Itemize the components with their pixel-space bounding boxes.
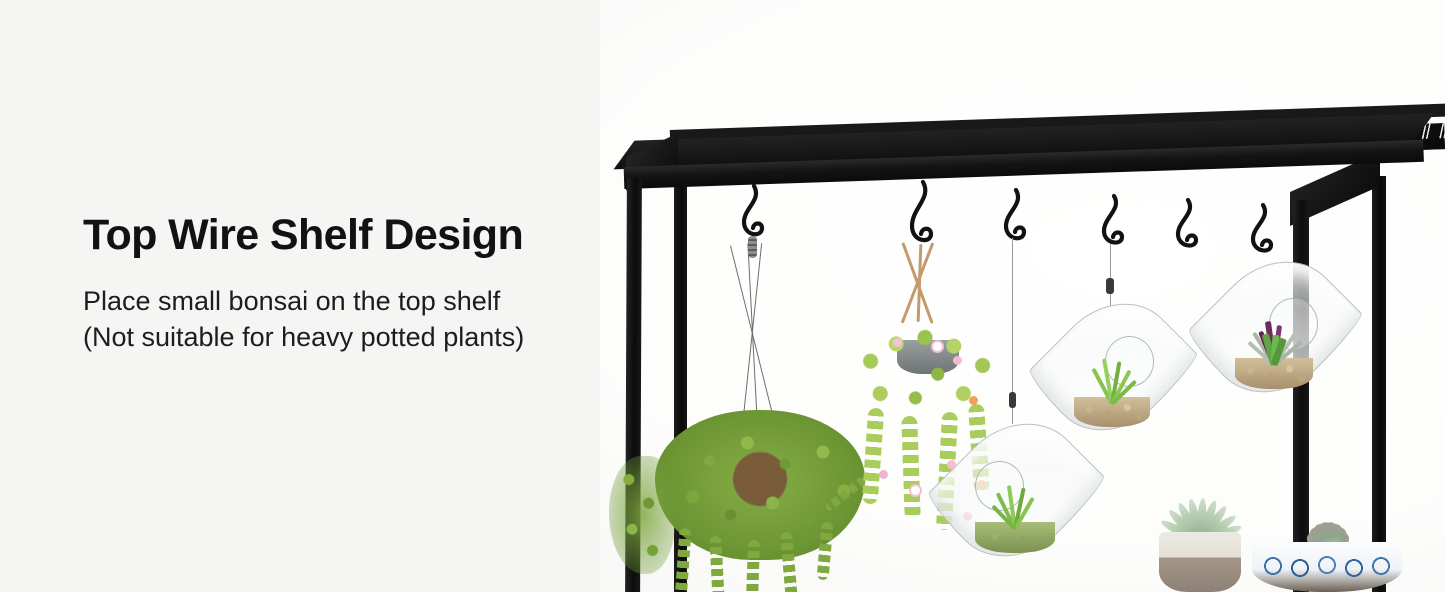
product-photo: [600, 0, 1445, 592]
ceramic-pot: [1159, 532, 1241, 592]
terrarium-ferrule-lower: [1009, 392, 1016, 408]
teardrop-glass-purple: [1216, 256, 1332, 396]
bloom-1: [933, 342, 942, 351]
s-hook-3: [995, 190, 1033, 258]
terrarium-wire-upper: [1110, 244, 1111, 306]
teardrop-glass-upper: [1056, 298, 1168, 434]
ivy-left-spill: [609, 456, 675, 574]
page-title: Top Wire Shelf Design: [83, 212, 603, 258]
subtitle-line-1: Place small bonsai on the top shelf: [83, 284, 603, 320]
s-hook-4: [1093, 196, 1131, 262]
ivy-trail-1: [674, 528, 691, 592]
product-feature-banner: Top Wire Shelf Design Place small bonsai…: [0, 0, 1445, 592]
blue-wave-bowl: [1252, 542, 1402, 592]
basket-wire-ferrule: [748, 236, 757, 258]
plant-stand-rack: [600, 0, 1445, 592]
bloom-4: [893, 338, 902, 347]
bloom-3: [969, 396, 978, 405]
echeveria-in-blue-wave-bowl: [1252, 498, 1402, 592]
ivy-foliage-mass: [655, 410, 865, 592]
bloom-6: [911, 486, 920, 495]
agave-succulent-in-ceramic-pot: [1145, 480, 1255, 592]
ivy-trail-3: [746, 540, 760, 592]
glass-opening: [1105, 336, 1154, 387]
flower-trail-2: [901, 416, 921, 520]
bloom-5: [879, 470, 888, 479]
basket-wire-c: [730, 246, 775, 423]
subtitle: Place small bonsai on the top shelf (Not…: [83, 284, 603, 355]
flower-trail-1: [862, 408, 885, 505]
teardrop-glass-lower: [956, 418, 1074, 560]
subtitle-line-2: (Not suitable for heavy potted plants): [83, 320, 603, 356]
copy-block: Top Wire Shelf Design Place small bonsai…: [83, 212, 603, 356]
bloom-2: [953, 356, 962, 365]
terrarium-ferrule-upper: [1106, 278, 1114, 294]
s-hook-5-empty: [1167, 200, 1205, 264]
echeveria-rosette: [1280, 498, 1376, 548]
